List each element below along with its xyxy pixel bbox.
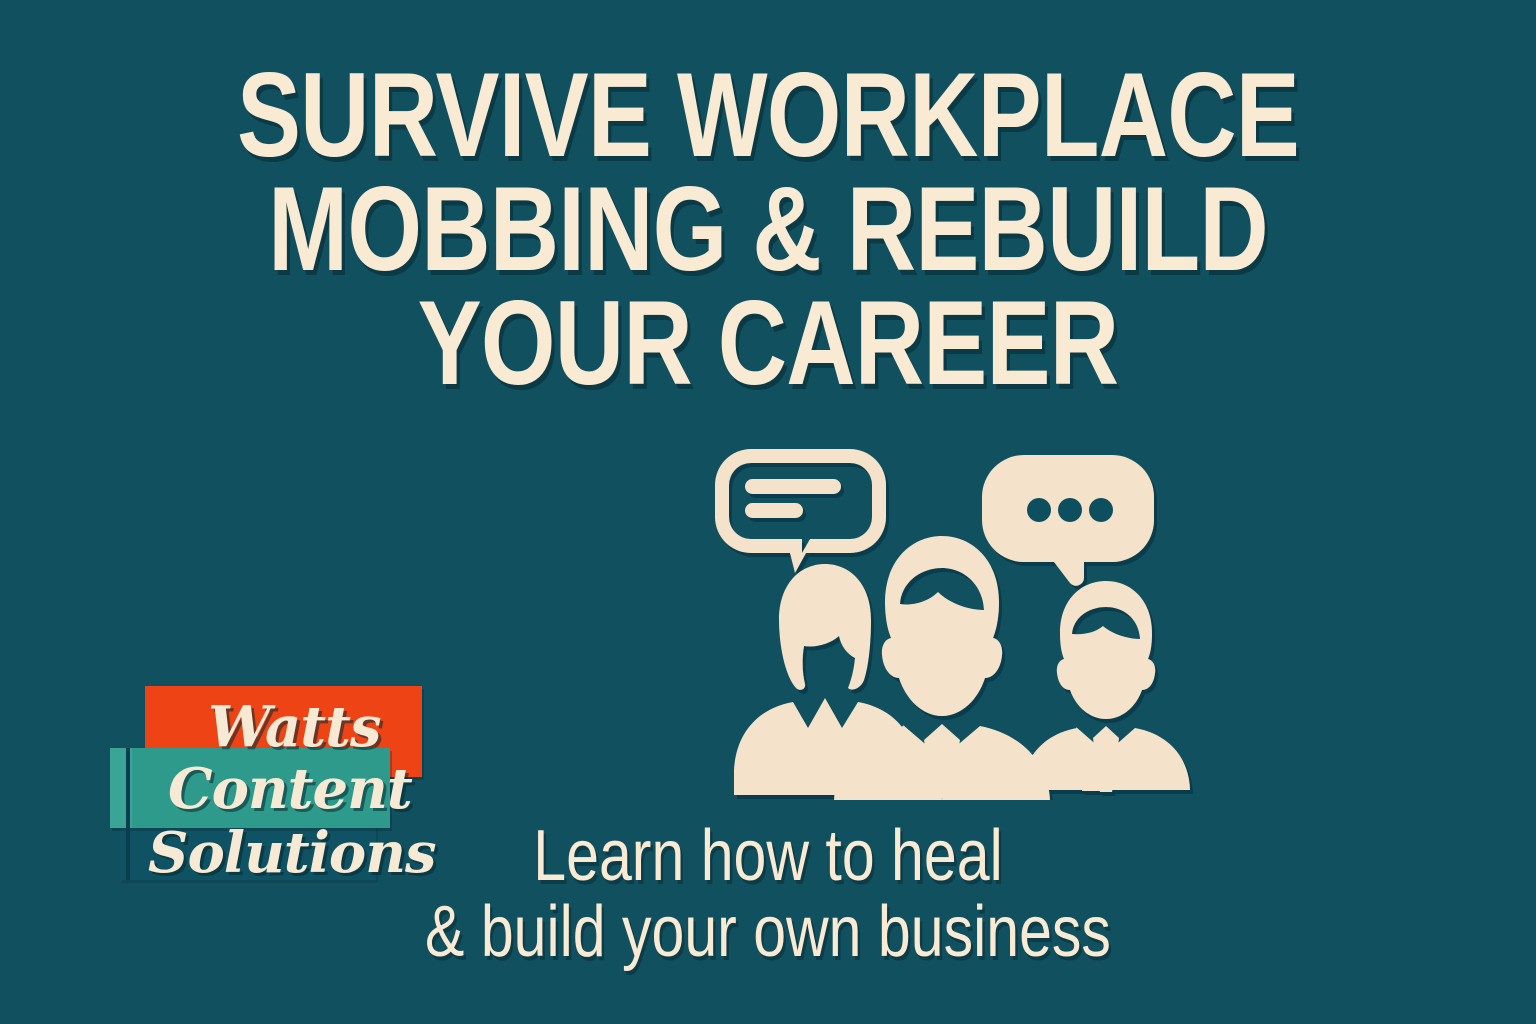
subtitle-line-2: & build your own business	[138, 894, 1398, 970]
three-people-with-speech-bubbles-illustration	[672, 440, 1212, 800]
headline-line-2: MOBBING & REBUILD	[154, 172, 1383, 286]
page-title: SURVIVE WORKPLACE MOBBING & REBUILD YOUR…	[0, 58, 1536, 400]
logo-word-watts: Watts	[208, 694, 381, 760]
poster-canvas: SURVIVE WORKPLACE MOBBING & REBUILD YOUR…	[0, 0, 1536, 1024]
subtitle-line-1: Learn how to heal	[138, 818, 1398, 894]
person-man-right-icon	[1022, 581, 1190, 792]
speech-bubble-lines-icon	[715, 449, 886, 573]
logo-word-content: Content	[168, 756, 412, 822]
subtitle: Learn how to heal & build your own busin…	[0, 818, 1536, 970]
speech-bubble-dots-icon	[982, 455, 1154, 586]
headline-line-3: YOUR CAREER	[154, 286, 1383, 400]
headline-line-1: SURVIVE WORKPLACE	[154, 58, 1383, 172]
